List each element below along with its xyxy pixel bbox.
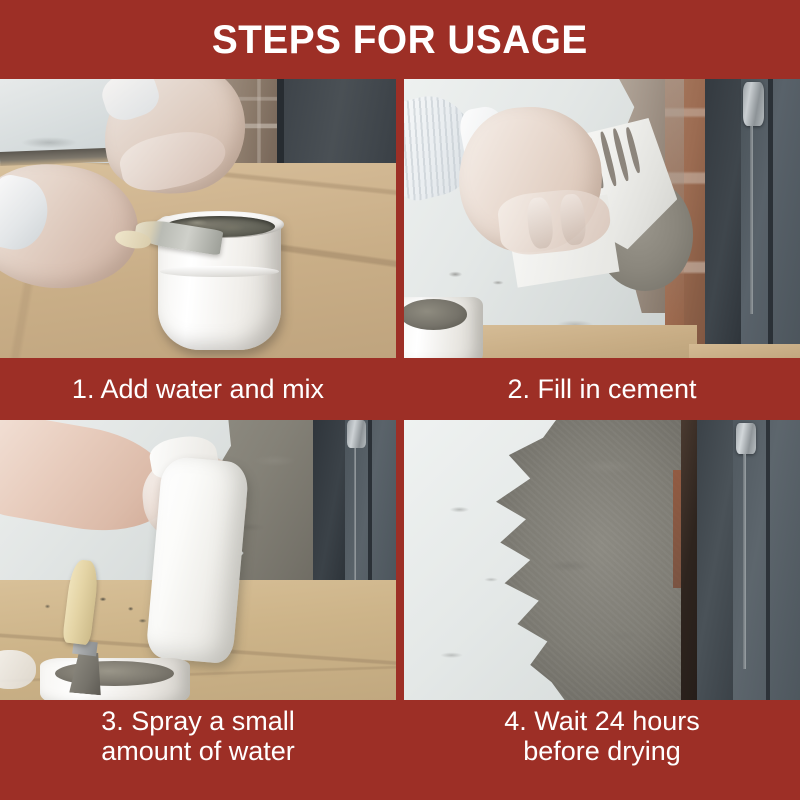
steps-for-usage-poster: STEPS FOR USAGE — [0, 0, 800, 800]
caption-band-bottom: 3. Spray a small amount of water 4. Wait… — [0, 700, 800, 800]
door-frame — [705, 79, 741, 358]
step-1-image — [0, 79, 396, 358]
step-3-caption: 3. Spray a small amount of water — [0, 700, 396, 800]
spray-bottle — [146, 456, 250, 664]
door-frame — [697, 420, 733, 700]
door-hinge — [736, 423, 756, 454]
step-4-image — [404, 420, 800, 700]
step-4-caption: 4. Wait 24 hours before drying — [404, 700, 800, 800]
title-bar: STEPS FOR USAGE — [0, 0, 800, 79]
caption-band-top: 1. Add water and mix 2. Fill in cement — [0, 358, 800, 420]
door-seam — [766, 420, 770, 700]
step-1-caption: 1. Add water and mix — [0, 358, 396, 420]
door-frame — [277, 79, 396, 163]
image-row-bottom — [0, 420, 800, 700]
step-3-image — [0, 420, 396, 700]
step-2-image — [404, 79, 800, 358]
page-title: STEPS FOR USAGE — [212, 20, 588, 60]
cardboard-sheet — [459, 325, 697, 358]
door-hinge — [347, 420, 367, 448]
door-frame — [313, 420, 345, 605]
cardboard-sheet-secondary — [689, 344, 800, 358]
image-row-top — [0, 79, 800, 358]
door-hinge — [743, 82, 765, 127]
step-2-caption: 2. Fill in cement — [404, 358, 800, 420]
door-seam — [768, 79, 772, 358]
bucket-lip — [160, 266, 279, 277]
